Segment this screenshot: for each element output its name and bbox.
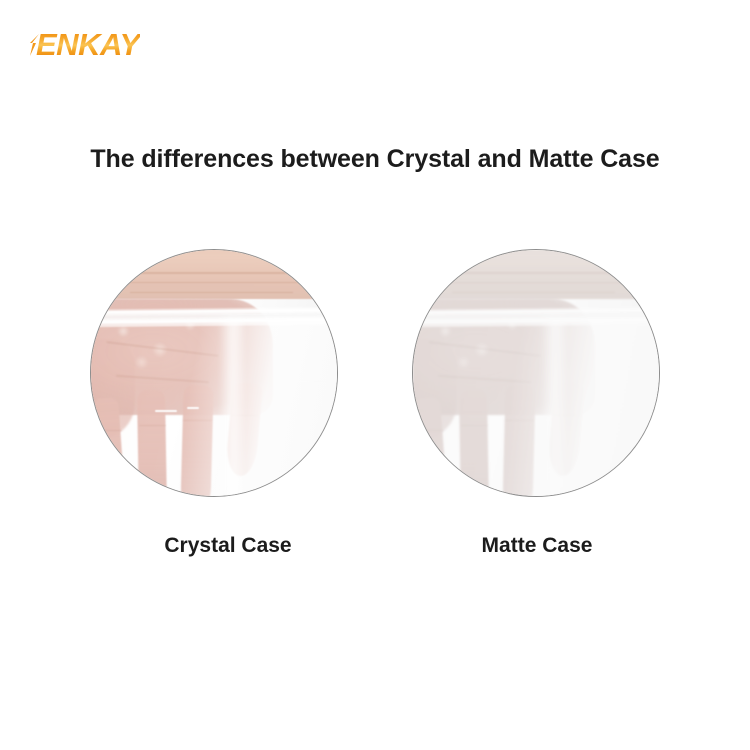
comparison-item-matte	[412, 249, 660, 497]
caption-crystal-case: Crystal Case	[78, 534, 378, 558]
brand-logo: ENKAY	[30, 27, 140, 61]
matte-case-scene	[413, 250, 659, 496]
case-seam	[541, 314, 566, 496]
page-title: The differences between Crystal and Matt…	[0, 145, 750, 174]
brand-wordmark: ENKAY	[36, 29, 140, 60]
matte-case-photo	[412, 249, 660, 497]
caption-matte-case: Matte Case	[387, 534, 687, 558]
case-seam	[219, 314, 244, 496]
crystal-case-photo	[90, 249, 338, 497]
case-surface-glint	[155, 410, 177, 412]
case-front-face	[91, 314, 337, 496]
case-front-face	[413, 314, 659, 496]
flash-slash-icon	[30, 34, 41, 56]
comparison-area	[0, 249, 750, 499]
crystal-case-scene	[91, 250, 337, 496]
caption-row: Crystal Case Matte Case	[0, 534, 750, 568]
wrist-crease	[423, 272, 639, 274]
comparison-item-crystal	[90, 249, 338, 497]
wrist-crease	[101, 272, 317, 274]
